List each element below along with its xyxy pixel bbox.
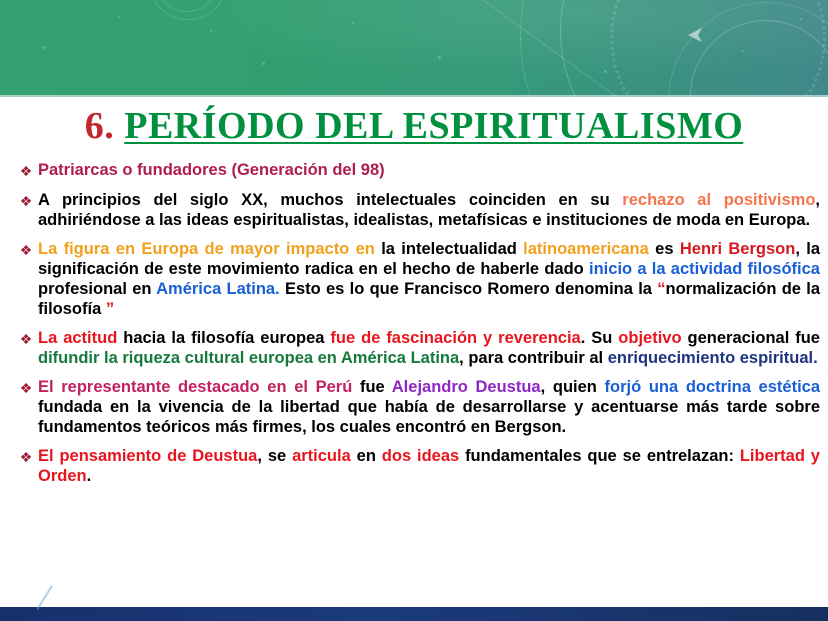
- footer-accent-slash: [36, 585, 53, 610]
- text-run: rechazo al positivismo: [622, 191, 815, 209]
- text-run: fundada en la vivencia de la libertad qu…: [38, 398, 820, 436]
- text-run: Alejandro Deustua: [392, 378, 541, 396]
- text-run: A principios del siglo XX, muchos intele…: [38, 191, 622, 209]
- text-run: articula: [292, 447, 351, 465]
- decorative-speckle: [742, 50, 744, 52]
- diamond-bullet-icon: ❖: [14, 328, 38, 349]
- text-run: generacional fue: [682, 329, 820, 347]
- text-run: fue de fascinación y reverencia: [330, 329, 580, 347]
- text-run: en: [351, 447, 382, 465]
- text-run: Esto es lo que Francisco Romero denomina…: [280, 280, 658, 298]
- bullet-text-4: La actitud hacia la filosofía europea fu…: [38, 328, 820, 368]
- diamond-bullet-icon: ❖: [14, 190, 38, 211]
- text-run: , quien: [541, 378, 605, 396]
- text-run: hacia la filosofía europea: [117, 329, 330, 347]
- text-run: .: [87, 467, 92, 485]
- text-run: , para contribuir al: [459, 349, 608, 367]
- bullet-text-5: El representante destacado en el Perú fu…: [38, 377, 820, 437]
- decorative-speckle: [604, 70, 607, 73]
- page-title: 6. PERÍODO DEL ESPIRITUALISMO: [0, 104, 828, 148]
- text-run: América Latina.: [156, 280, 280, 298]
- text-run: la intelectualidad: [381, 240, 523, 258]
- text-run: latinoamericana: [523, 240, 649, 258]
- title-text: PERÍODO DEL ESPIRITUALISMO: [124, 105, 743, 147]
- slide-canvas: 6. PERÍODO DEL ESPIRITUALISMO ❖Patriarca…: [0, 0, 828, 621]
- text-run: inicio a la actividad filosófica: [589, 260, 820, 278]
- bullet-text-6: El pensamiento de Deustua, se articula e…: [38, 446, 820, 486]
- text-run: fundamentales que se entrelazan:: [459, 447, 740, 465]
- text-run: objetivo: [618, 329, 681, 347]
- diamond-bullet-icon: ❖: [14, 377, 38, 398]
- text-run: enriquecimiento espiritual.: [608, 349, 818, 367]
- decorative-speckle: [210, 30, 212, 32]
- bullet-item-5: ❖El representante destacado en el Perú f…: [14, 377, 820, 437]
- bullet-text-1: Patriarcas o fundadores (Generación del …: [38, 160, 820, 180]
- text-run: Henri Bergson: [680, 240, 795, 258]
- text-run: Patriarcas o fundadores (Generación del …: [38, 161, 385, 179]
- text-run: “: [657, 280, 665, 298]
- text-run: La actitud: [38, 329, 117, 347]
- bullet-text-2: A principios del siglo XX, muchos intele…: [38, 190, 820, 230]
- text-run: . Su: [581, 329, 619, 347]
- diamond-bullet-icon: ❖: [14, 446, 38, 467]
- decorative-speckle: [118, 16, 120, 18]
- decorative-speckle: [800, 18, 802, 20]
- bullet-item-2: ❖A principios del siglo XX, muchos intel…: [14, 190, 820, 230]
- decorative-speckle: [438, 56, 441, 59]
- text-run: , se: [257, 447, 292, 465]
- text-run: El representante destacado en el Perú: [38, 378, 352, 396]
- decorative-speckle: [352, 22, 354, 24]
- decorative-speckle: [42, 46, 45, 49]
- bullet-text-3: La figura en Europa de mayor impacto en …: [38, 239, 820, 319]
- text-run: ”: [106, 300, 114, 318]
- header-divider: [0, 95, 828, 97]
- text-run: dos ideas: [382, 447, 459, 465]
- text-run: profesional en: [38, 280, 156, 298]
- text-run: La figura en Europa de mayor impacto en: [38, 240, 381, 258]
- title-number: 6.: [85, 105, 115, 147]
- header-banner: [0, 0, 828, 97]
- bullet-item-3: ❖La figura en Europa de mayor impacto en…: [14, 239, 820, 319]
- decorative-ring-ticks: [610, 0, 826, 97]
- decorative-speckle: [520, 38, 522, 40]
- diamond-bullet-icon: ❖: [14, 160, 38, 181]
- diamond-bullet-icon: ❖: [14, 239, 38, 260]
- bullet-item-1: ❖Patriarcas o fundadores (Generación del…: [14, 160, 820, 181]
- bullet-item-4: ❖La actitud hacia la filosofía europea f…: [14, 328, 820, 368]
- text-run: El pensamiento de Deustua: [38, 447, 257, 465]
- decorative-speckle: [262, 62, 265, 65]
- bullet-item-6: ❖El pensamiento de Deustua, se articula …: [14, 446, 820, 486]
- footer-bar: [0, 607, 828, 621]
- bullet-list: ❖Patriarcas o fundadores (Generación del…: [14, 160, 820, 495]
- text-run: fue: [352, 378, 391, 396]
- text-run: forjó una doctrina estética: [605, 378, 821, 396]
- text-run: difundir la riqueza cultural europea en …: [38, 349, 459, 367]
- text-run: es: [649, 240, 680, 258]
